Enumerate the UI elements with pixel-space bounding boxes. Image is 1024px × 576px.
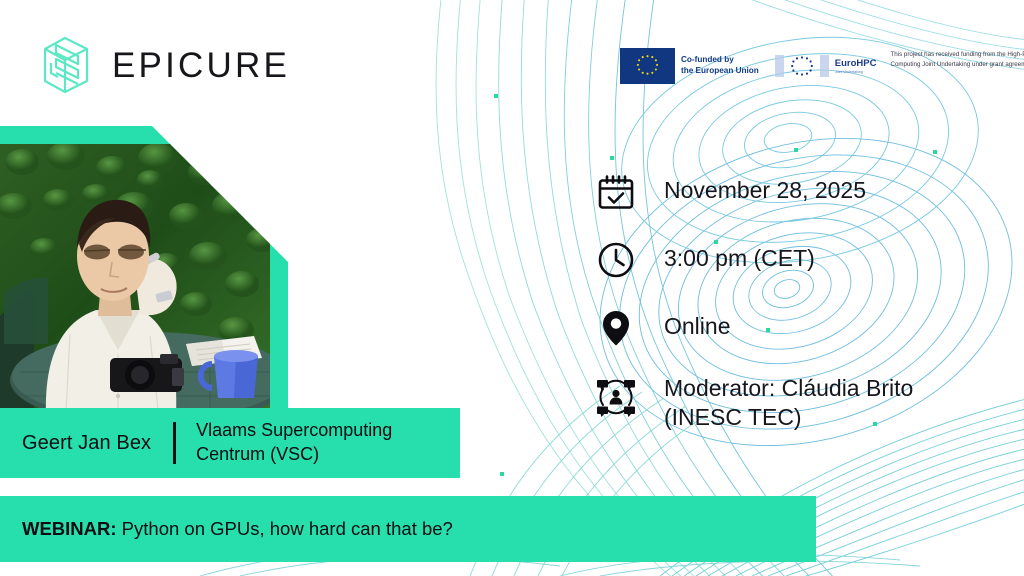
- webinar-label: WEBINAR:: [22, 518, 117, 539]
- eu-cofunded-label: Co-funded by the European Union: [681, 55, 759, 76]
- video-conference-icon: [596, 374, 640, 418]
- eurohpc-logo: EuroHPC Joint Undertaking: [773, 51, 877, 82]
- poster-canvas: EPICURE Co-funded by the European Union: [0, 0, 1024, 576]
- epicure-logo: EPICURE: [38, 33, 290, 97]
- speaker-affiliation: Vlaams Supercomputing Centrum (VSC): [196, 419, 446, 467]
- speaker-divider: [173, 422, 176, 464]
- event-details: November 28, 2025 3:00 pm (CET): [596, 170, 913, 433]
- cofunded-line-2: the European Union: [681, 66, 759, 77]
- eu-flag-icon: [620, 48, 675, 84]
- detail-row-time: 3:00 pm (CET): [596, 238, 913, 282]
- speaker-name-bar: Geert Jan Bex Vlaams Supercomputing Cent…: [0, 408, 460, 478]
- detail-row-date: November 28, 2025: [596, 170, 913, 214]
- eu-cofunded-logo: Co-funded by the European Union: [620, 48, 759, 84]
- cofunded-line-1: Co-funded by: [681, 55, 759, 66]
- eurohpc-subtitle: Joint Undertaking: [835, 70, 877, 74]
- location-pin-icon: [596, 306, 640, 350]
- webinar-title-bar: WEBINAR: Python on GPUs, how hard can th…: [0, 496, 816, 562]
- eurohpc-stars-icon: [773, 51, 831, 82]
- detail-date-label: November 28, 2025: [664, 170, 866, 205]
- detail-moderator-label: Moderator: Cláudia Brito (INESC TEC): [664, 374, 913, 433]
- eurohpc-wordmark: EuroHPC Joint Undertaking: [835, 59, 877, 74]
- speaker-name: Geert Jan Bex: [0, 432, 151, 455]
- detail-row-location: Online: [596, 306, 913, 350]
- epicure-cube-icon: [38, 33, 94, 97]
- funding-acknowledgement: Co-funded by the European Union: [620, 48, 1024, 84]
- epicure-wordmark: EPICURE: [112, 48, 290, 83]
- detail-row-moderator: Moderator: Cláudia Brito (INESC TEC): [596, 374, 913, 433]
- calendar-check-icon: [596, 170, 640, 214]
- clock-icon: [596, 238, 640, 282]
- webinar-topic: Python on GPUs, how hard can that be?: [117, 518, 453, 539]
- grant-agreement-text: This project has received funding from t…: [890, 50, 1024, 70]
- webinar-title: WEBINAR: Python on GPUs, how hard can th…: [0, 518, 453, 540]
- detail-location-label: Online: [664, 306, 730, 341]
- detail-time-label: 3:00 pm (CET): [664, 238, 815, 273]
- eurohpc-name: EuroHPC: [835, 59, 877, 69]
